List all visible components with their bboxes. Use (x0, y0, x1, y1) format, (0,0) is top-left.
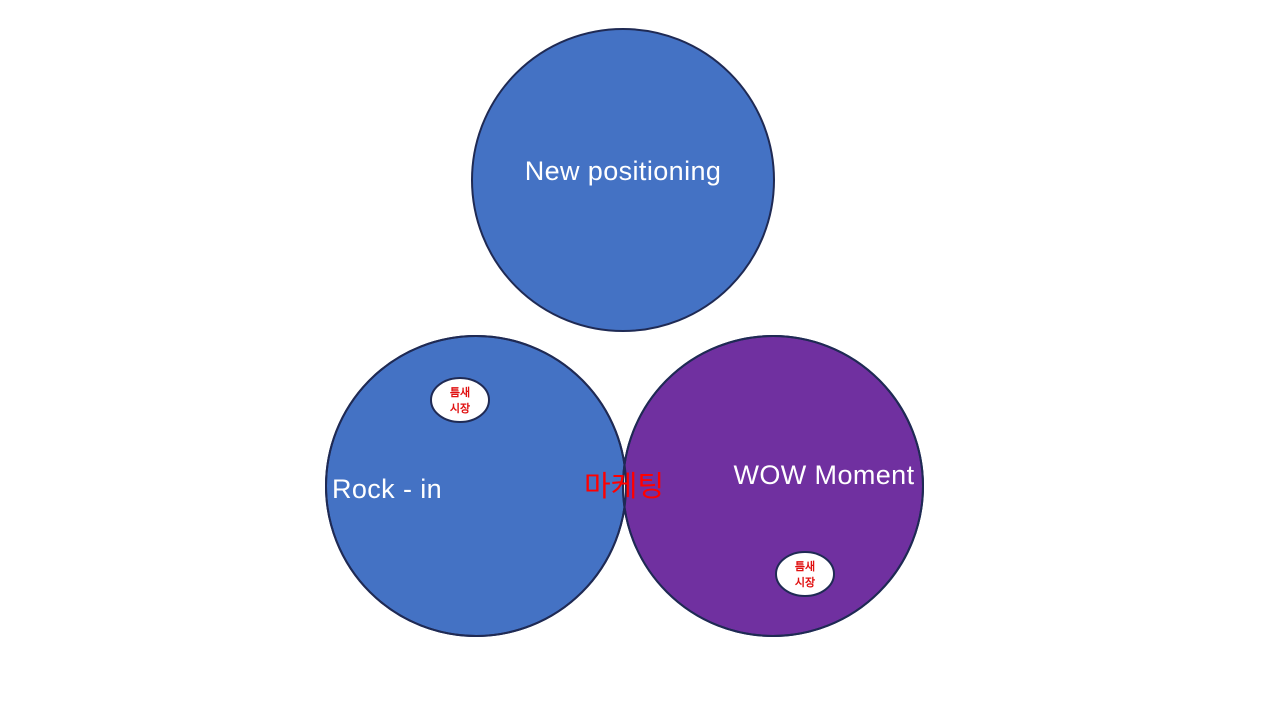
venn-label-right: WOW Moment (733, 460, 914, 490)
venn-diagram: New positioning Rock - in WOW Moment 마케팅… (0, 0, 1280, 719)
badge-right-ellipse (776, 552, 834, 596)
badge-left-ellipse (431, 378, 489, 422)
venn-label-intersection: 마케팅 (584, 469, 664, 503)
badge-left-line1: 틈새 (450, 385, 470, 399)
badge-left[interactable]: 틈새 시장 (431, 378, 489, 422)
badge-left-line2: 시장 (450, 401, 470, 415)
slide-canvas: New positioning Rock - in WOW Moment 마케팅… (0, 0, 1280, 719)
venn-label-top: New positioning (525, 156, 722, 186)
venn-label-left: Rock - in (332, 474, 442, 504)
badge-right-line2: 시장 (795, 575, 815, 589)
badge-right-line1: 틈새 (795, 559, 815, 573)
badge-right[interactable]: 틈새 시장 (776, 552, 834, 596)
